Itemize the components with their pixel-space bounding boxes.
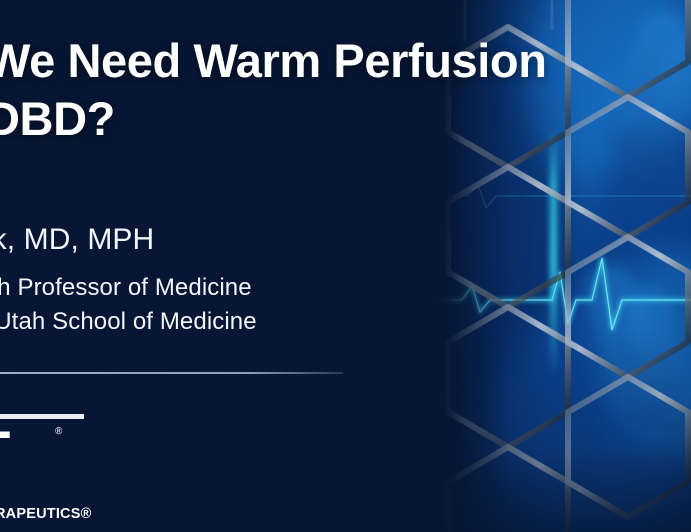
title-slide: We Need Warm Perfusion DBD? Stehlik, MD,…	[0, 0, 691, 532]
presenter-title: i T Smith Professor of Medicine	[0, 271, 536, 305]
byline-block: Stehlik, MD, MPH i T Smith Professor of …	[0, 222, 536, 340]
logo-tagline-line-2: AILURE THERAPEUTICS®	[0, 506, 91, 522]
logo-top-rule	[0, 414, 84, 419]
divider	[0, 372, 343, 374]
page-title: We Need Warm Perfusion DBD?	[0, 32, 676, 149]
presenter-institution: rsity of Utah School of Medicine	[0, 305, 536, 339]
slide-text-layer: We Need Warm Perfusion DBD? Stehlik, MD,…	[0, 0, 691, 532]
presenter-name: Stehlik, MD, MPH	[0, 222, 536, 257]
society-logo: HT ® LOGY AND AILURE THERAPEUTICS®	[0, 414, 144, 524]
registered-trademark-icon: ®	[55, 426, 62, 437]
logo-wordmark: HT	[0, 424, 9, 482]
